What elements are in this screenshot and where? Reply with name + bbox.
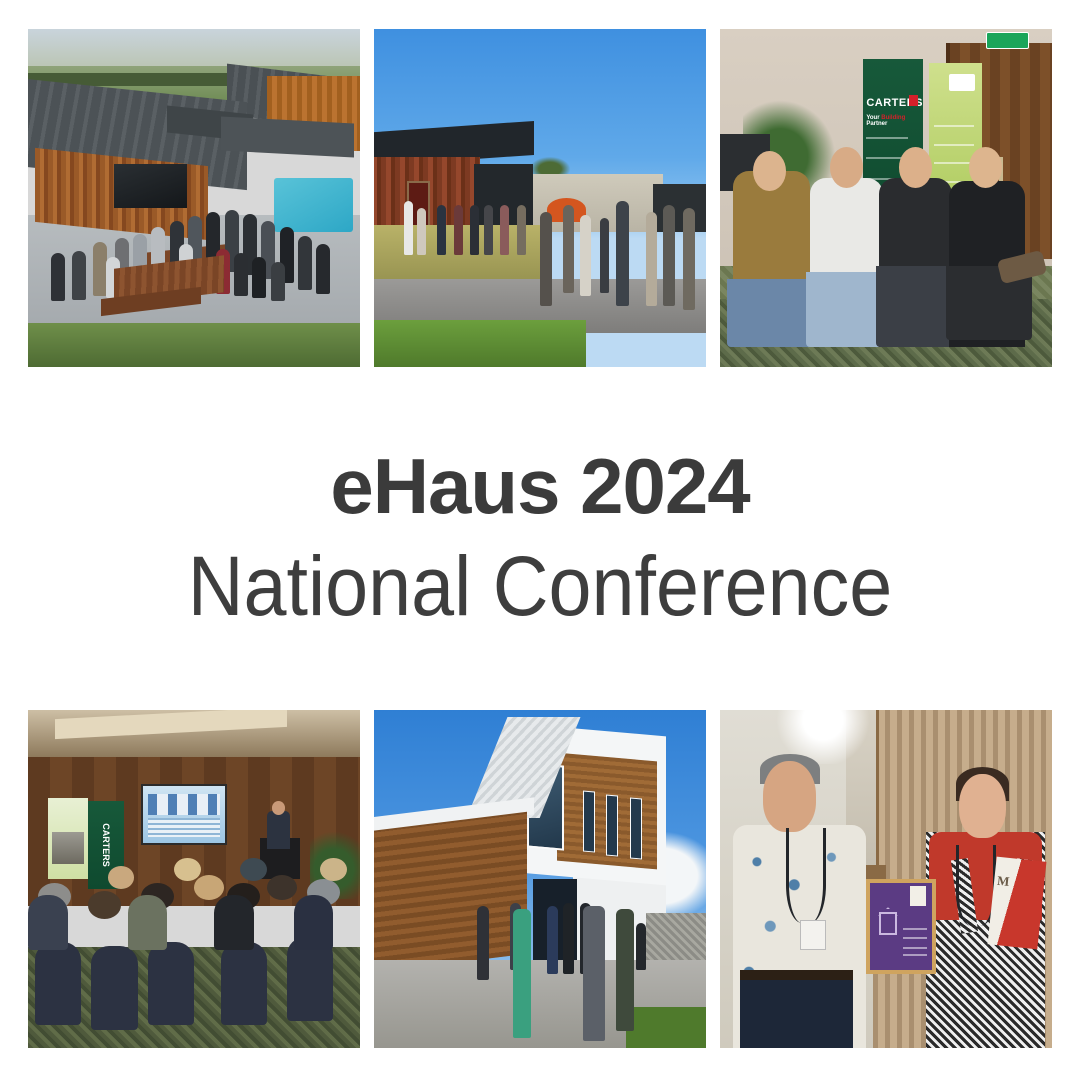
projector-screen	[141, 784, 227, 845]
gift-box-letter: M	[997, 872, 1011, 889]
vertical-window-2	[606, 794, 618, 856]
ehaus-logo	[949, 74, 974, 91]
recipient-left-lanyard	[786, 828, 826, 923]
exit-sign	[986, 32, 1029, 49]
vertical-window-1	[583, 791, 595, 853]
left-timber-wall	[374, 811, 527, 973]
dark-block-right	[653, 184, 706, 231]
carters-logo-square	[909, 95, 918, 106]
recipient-left-head	[763, 761, 816, 832]
outdoor-group-scene	[374, 29, 706, 367]
presenter-body	[267, 811, 290, 848]
audience-presentation-scene: CARTERS	[28, 710, 360, 1048]
recipient-right-lanyard	[956, 845, 996, 926]
vertical-window-3	[630, 797, 642, 859]
photo-top-right[interactable]: CARTERS Your Building Partner	[720, 29, 1052, 367]
gift-box: M	[988, 856, 1047, 949]
lawn	[374, 320, 586, 367]
house-outline-icon	[879, 912, 898, 935]
photo-bottom-middle[interactable]	[374, 710, 706, 1048]
photo-top-middle[interactable]	[374, 29, 706, 367]
poster-canvas: CARTERS Your Building Partner	[0, 0, 1080, 1080]
audience-seating	[28, 845, 360, 1048]
certificate-mat	[870, 883, 932, 970]
aerial-group-photo-scene	[28, 29, 360, 367]
lawn	[626, 1007, 706, 1048]
carters-banner-tagline: Your Building Partner	[866, 115, 922, 127]
award-presentation-scene: M	[720, 710, 1052, 1048]
slide-table-rows	[148, 818, 220, 837]
photo-top-left[interactable]	[28, 29, 360, 367]
photo-bottom-right[interactable]: M	[720, 710, 1052, 1048]
photo-row-bottom: CARTERS	[28, 710, 1052, 1048]
recipient-left-belt	[740, 970, 853, 980]
gabion-wall	[646, 913, 706, 960]
page-title: eHaus 2024	[0, 438, 1080, 534]
award-certificate-frame	[866, 879, 936, 974]
photo-bottom-left[interactable]: CARTERS	[28, 710, 360, 1048]
lawn-foreground	[28, 323, 360, 367]
photo-row-top: CARTERS Your Building Partner	[28, 29, 1052, 367]
presenter-head	[272, 801, 285, 815]
recipient-right-head	[959, 774, 1005, 838]
house-tour-scene	[374, 710, 706, 1048]
recipient-left-name-badge	[800, 920, 827, 950]
panel-discussion-scene: CARTERS Your Building Partner	[720, 29, 1052, 367]
recipient-left-jeans	[740, 974, 853, 1048]
certificate-logo-tag	[910, 886, 926, 905]
page-subtitle: National Conference	[43, 534, 1037, 638]
headline-block: eHaus 2024 National Conference	[0, 438, 1080, 638]
slide-images	[148, 794, 220, 814]
